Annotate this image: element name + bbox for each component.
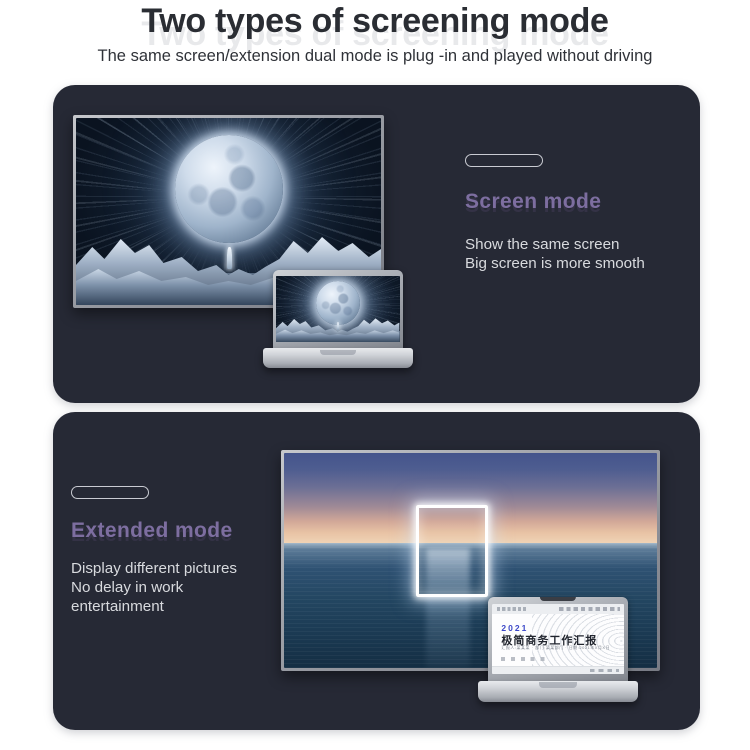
description-line-screen-mode-2: Big screen is more smooth [465, 254, 645, 273]
moon-starscape-scene-mirrored [276, 276, 399, 342]
panel-screen-mode: Screen mode Show the same screen Big scr… [53, 85, 700, 403]
laptop-device-extended-mode: 2021 极简商务工作汇报 汇报人:某某某 · 部门:某某部门 · 日期:202… [478, 597, 638, 702]
panel-extended-mode: 2021 极简商务工作汇报 汇报人:某某某 · 部门:某某部门 · 日期:202… [53, 412, 700, 730]
slide-toolbar-right-menu [559, 607, 620, 611]
page-subtitle: The same screen/extension dual mode is p… [0, 47, 750, 66]
laptop-notch [540, 597, 576, 601]
heading-screen-mode: Screen mode [465, 190, 601, 214]
presentation-slide: 2021 极简商务工作汇报 汇报人:某某某 · 部门:某某部门 · 日期:202… [492, 604, 624, 675]
capsule-marker-icon-screen-mode [465, 154, 543, 167]
description-line-extended-mode-3: entertainment [71, 597, 164, 616]
slide-statusbar [492, 666, 624, 674]
heading-extended-mode: Extended mode [71, 519, 233, 543]
laptop-screen-content [276, 276, 399, 342]
neon-square-icon [416, 505, 487, 597]
description-line-extended-mode-2: No delay in work [71, 578, 183, 597]
slide-canvas: 2021 极简商务工作汇报 汇报人:某某某 · 部门:某某部门 · 日期:202… [492, 614, 624, 667]
slide-footer-marks [501, 657, 546, 661]
slide-year-label: 2021 [501, 623, 528, 633]
capsule-marker-icon-extended-mode [71, 486, 149, 499]
laptop-lid [273, 270, 404, 350]
laptop-base [263, 348, 413, 368]
laptop-screen-content: 2021 极简商务工作汇报 汇报人:某某某 · 部门:某某部门 · 日期:202… [492, 604, 624, 675]
laptop-device-screen-mode [263, 270, 413, 368]
description-line-extended-mode-1: Display different pictures [71, 559, 237, 578]
laptop-lid: 2021 极简商务工作汇报 汇报人:某某某 · 部门:某某部门 · 日期:202… [488, 597, 627, 683]
slide-toolbar-left-icons [497, 607, 526, 612]
slide-statusbar-controls [590, 669, 619, 672]
slide-subtitle-label: 汇报人:某某某 · 部门:某某部门 · 日期:2021年X月X日 [501, 645, 610, 651]
laptop-base [478, 681, 638, 702]
description-line-screen-mode-1: Show the same screen [465, 235, 620, 254]
standing-figure-icon [227, 247, 232, 269]
page-title: Two types of screening mode [0, 2, 750, 41]
page-header: Two types of screening mode The same scr… [0, 0, 750, 78]
